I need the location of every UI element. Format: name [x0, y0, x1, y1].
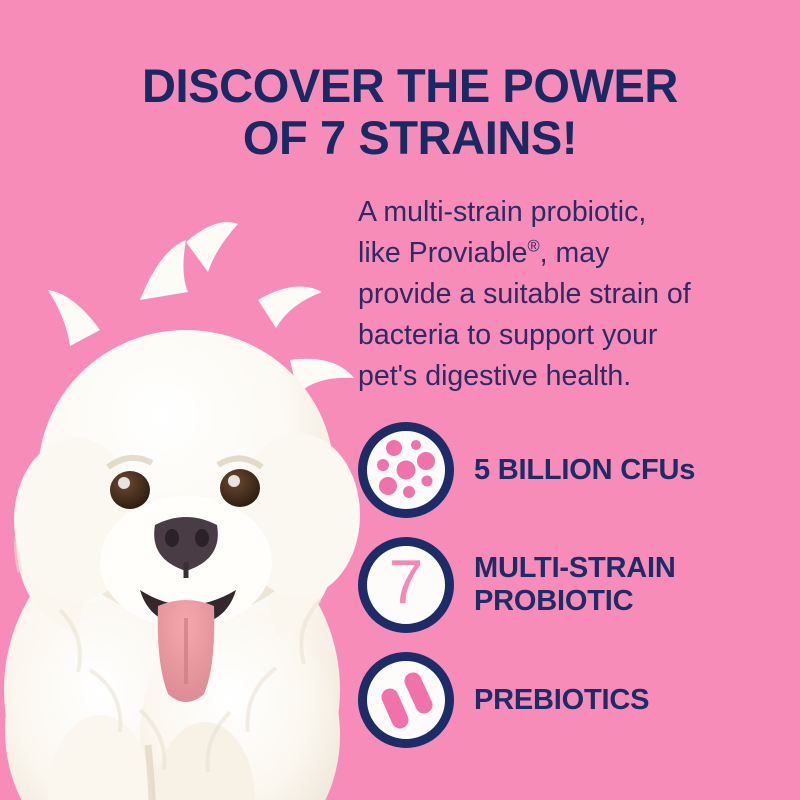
- feature-item-multistrain: 7 MULTI-STRAIN PROBIOTIC: [358, 537, 778, 633]
- feature-label-cfus: 5 BILLION CFUs: [474, 454, 695, 487]
- registered-trademark-icon: ®: [528, 237, 540, 256]
- feature-item-cfus: 5 BILLION CFUs: [358, 422, 778, 518]
- body-rest: provide a suitable strain of bacteria to…: [358, 278, 691, 392]
- feature-label-multistrain: MULTI-STRAIN PROBIOTIC: [474, 552, 676, 618]
- prebiotic-molecule-icon: [358, 652, 454, 748]
- seven-numeral: 7: [367, 546, 445, 624]
- feature-list: 5 BILLION CFUs 7 MULTI-STRAIN PROBIOTIC …: [358, 422, 778, 767]
- number-seven-icon: 7: [358, 537, 454, 633]
- body-line-2-before: like Proviable: [358, 237, 528, 269]
- dog-photo: [0, 170, 380, 800]
- body-line-1: A multi-strain probiotic,: [358, 196, 646, 228]
- promo-poster: DISCOVER THE POWER OF 7 STRAINS! A multi…: [0, 0, 800, 800]
- feature-item-prebiotics: PREBIOTICS: [358, 652, 778, 748]
- feature-label-prebiotics: PREBIOTICS: [474, 684, 649, 717]
- bacteria-dots-icon: [358, 422, 454, 518]
- headline: DISCOVER THE POWER OF 7 STRAINS!: [100, 60, 720, 164]
- body-line-2-after: , may: [540, 237, 610, 269]
- body-paragraph: A multi-strain probiotic, like Proviable…: [358, 192, 754, 397]
